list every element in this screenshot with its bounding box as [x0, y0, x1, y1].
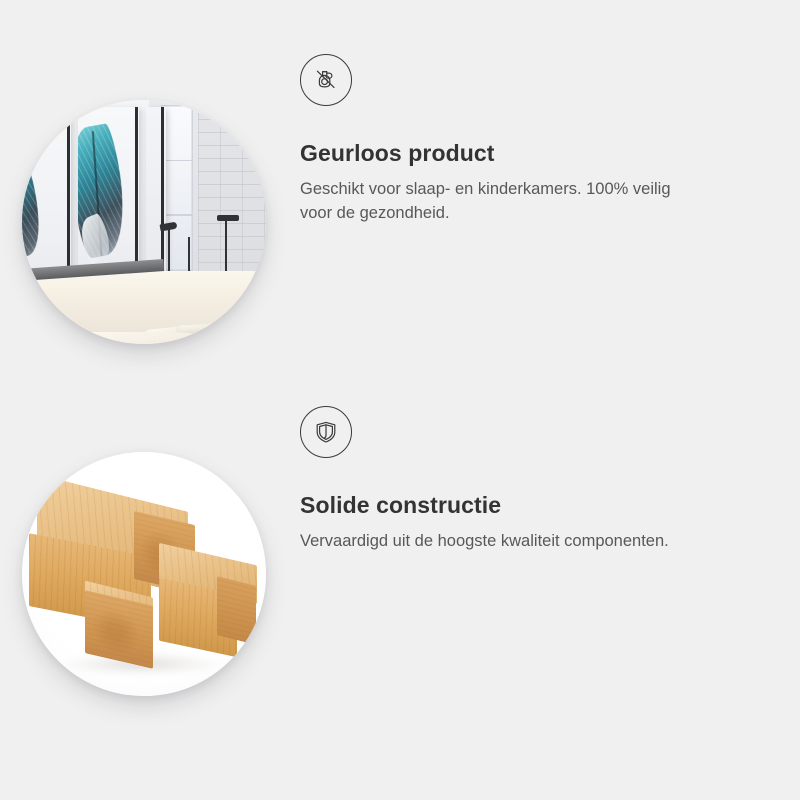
no-fragrance-icon [300, 54, 352, 106]
feature-row-solide-constructie: Solide constructie Vervaardigd uit de ho… [0, 392, 800, 752]
feature-description: Vervaardigd uit de hoogste kwaliteit com… [300, 530, 690, 554]
feature-image-wrapper [0, 40, 300, 370]
wall-lamp-head [217, 215, 239, 221]
shield-icon [300, 406, 352, 458]
wood-scene [22, 452, 266, 696]
bedroom-scene [22, 100, 266, 344]
feature-description: Geschikt voor slaap- en kinderkamers. 10… [300, 178, 690, 226]
panel-edge [67, 107, 70, 288]
feather-canvas-bedroom-photo [22, 100, 266, 344]
feature-text-column: Geurloos product Geschikt voor slaap- en… [300, 40, 800, 225]
feature-image-wrapper [0, 392, 300, 722]
feature-row-geurloos-product: Geurloos product Geschikt voor slaap- en… [0, 40, 800, 400]
feature-list: Geurloos product Geschikt voor slaap- en… [0, 0, 800, 800]
bed [22, 271, 266, 344]
pillow [176, 322, 240, 333]
feather-shape [22, 135, 51, 261]
feather-barbs [22, 135, 51, 261]
feature-title: Solide constructie [300, 492, 752, 520]
canvas-panel-1 [22, 107, 71, 288]
wooden-beams-photo [22, 452, 266, 696]
feature-title: Geurloos product [300, 140, 752, 168]
wood-beam-end-grain [217, 576, 256, 644]
duvet [22, 332, 217, 344]
feature-text-column: Solide constructie Vervaardigd uit de ho… [300, 392, 800, 554]
